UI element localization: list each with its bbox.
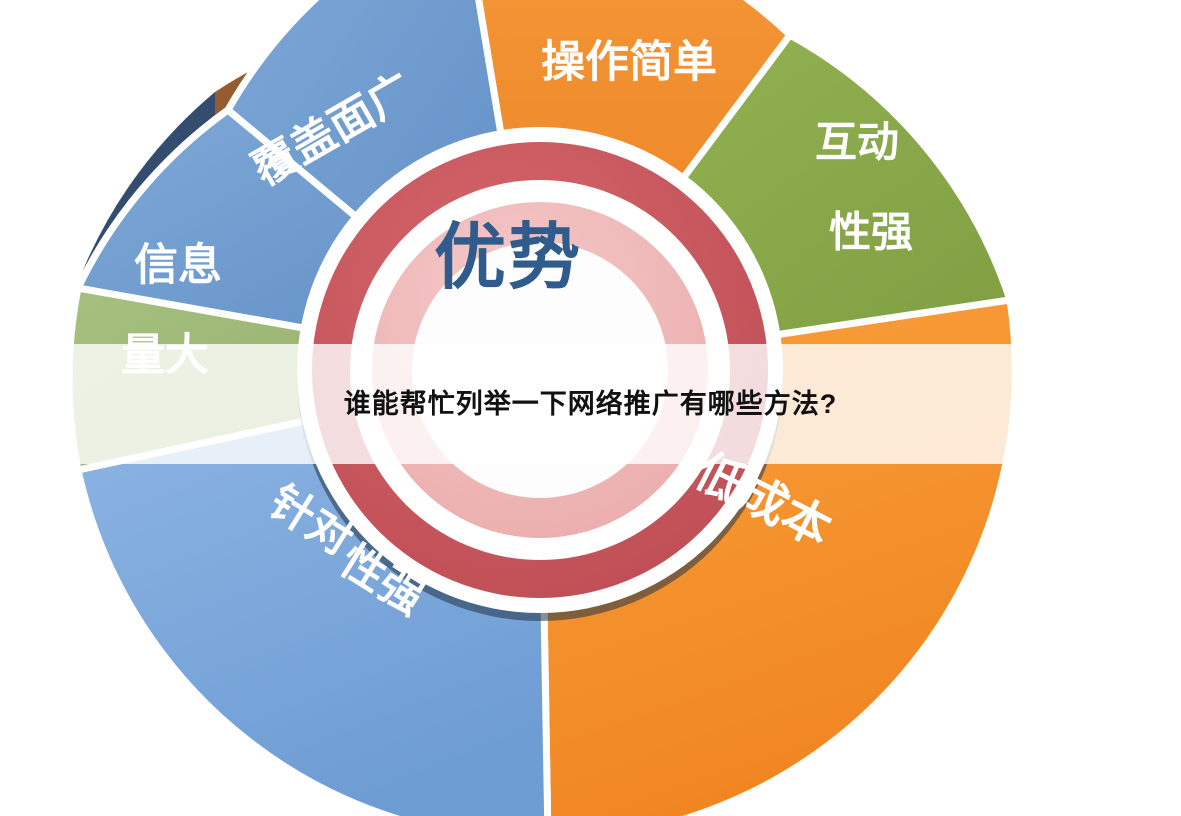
label-strong-interaction-line2: 性强: [829, 209, 913, 256]
label-large-info-volume-line2: 量大: [121, 331, 209, 380]
infographic-canvas: 优势 覆盖面广 操作简单 互动 性强 低成本 针对 性强 信息 量大 谁能帮忙列…: [0, 0, 1181, 816]
label-strong-interaction-line1: 互动: [815, 119, 899, 166]
hub-center-label: 优势: [434, 218, 582, 298]
donut-wheel-diagram: 优势 覆盖面广 操作简单 互动 性强 低成本 针对 性强 信息 量大: [0, 0, 1181, 816]
label-simple-operation: 操作简单: [541, 38, 717, 87]
label-large-info-volume-line1: 信息: [134, 241, 222, 290]
